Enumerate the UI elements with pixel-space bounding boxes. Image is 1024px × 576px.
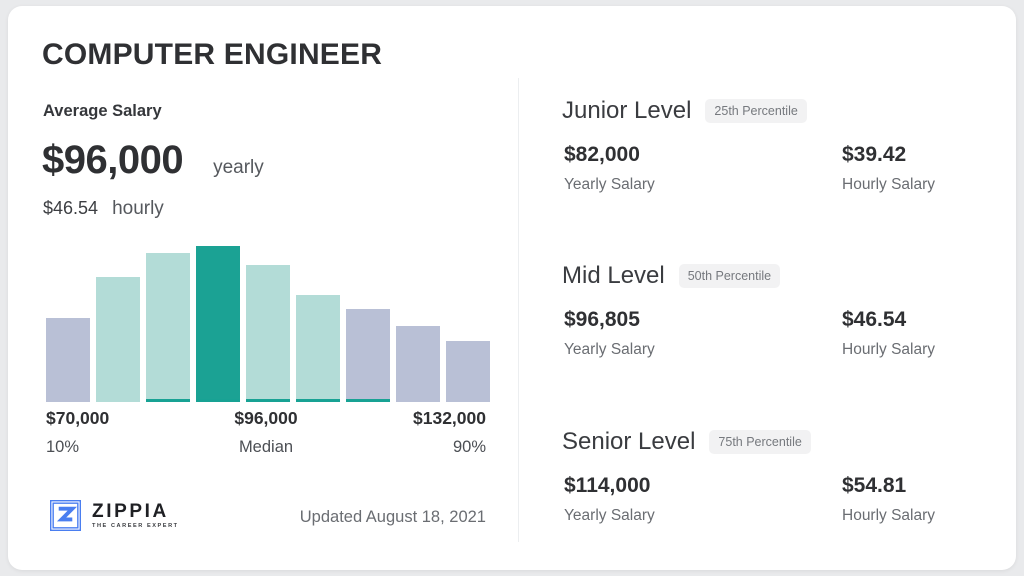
level-block: Junior Level25th Percentile$82,000Yearly… <box>562 96 982 201</box>
level-block: Senior Level75th Percentile$114,000Yearl… <box>562 427 982 532</box>
average-hourly-unit: hourly <box>112 198 164 220</box>
level-header: Mid Level50th Percentile <box>562 261 982 291</box>
card-footer: ZIPPIA THE CAREER EXPERT Updated August … <box>8 492 518 548</box>
hourly-salary-caption: Hourly Salary <box>842 341 935 359</box>
hourly-salary-amount: $54.81 <box>842 474 935 498</box>
axis-high-value: $132,000 <box>413 408 486 429</box>
zippia-logo-text: ZIPPIA THE CAREER EXPERT <box>92 502 179 530</box>
average-hourly-amount: $46.54 <box>43 198 98 219</box>
levels-panel: Junior Level25th Percentile$82,000Yearly… <box>519 6 1016 570</box>
average-hourly-row: $46.54 hourly <box>43 198 164 220</box>
chart-bar <box>96 277 140 402</box>
zippia-wordmark: ZIPPIA <box>92 502 179 521</box>
yearly-salary-amount: $82,000 <box>564 143 655 167</box>
yearly-salary-caption: Yearly Salary <box>564 341 655 359</box>
hourly-salary-stat: $39.42Hourly Salary <box>842 143 935 194</box>
page-title: COMPUTER ENGINEER <box>42 38 382 72</box>
chart-bar <box>396 326 440 402</box>
axis-high-sub: 90% <box>413 438 486 457</box>
zippia-logo-icon <box>50 500 81 531</box>
chart-bar-underline <box>196 399 240 402</box>
chart-bar <box>246 265 290 402</box>
level-stats: $96,805Yearly Salary$46.54Hourly Salary <box>562 308 982 366</box>
chart-bar-underline <box>296 399 340 402</box>
chart-bar <box>346 309 390 402</box>
level-stats: $114,000Yearly Salary$54.81Hourly Salary <box>562 474 982 532</box>
chart-bar <box>146 253 190 402</box>
level-name: Senior Level <box>562 428 695 456</box>
yearly-salary-stat: $96,805Yearly Salary <box>564 308 655 359</box>
chart-bar-underline <box>246 399 290 402</box>
zippia-tagline: THE CAREER EXPERT <box>92 524 179 530</box>
level-header: Senior Level75th Percentile <box>562 427 982 457</box>
yearly-salary-stat: $82,000Yearly Salary <box>564 143 655 194</box>
level-name: Mid Level <box>562 262 665 290</box>
hourly-salary-caption: Hourly Salary <box>842 176 935 194</box>
level-stats: $82,000Yearly Salary$39.42Hourly Salary <box>562 143 982 201</box>
level-name: Junior Level <box>562 97 691 125</box>
yearly-salary-amount: $96,805 <box>564 308 655 332</box>
average-salary-label: Average Salary <box>43 102 162 121</box>
chart-axis-labels: $70,000 10% $96,000 Median $132,000 90% <box>46 408 486 464</box>
hourly-salary-caption: Hourly Salary <box>842 507 935 525</box>
hourly-salary-amount: $46.54 <box>842 308 935 332</box>
chart-bar <box>296 295 340 402</box>
salary-distribution-chart <box>46 246 486 402</box>
yearly-salary-amount: $114,000 <box>564 474 655 498</box>
yearly-salary-caption: Yearly Salary <box>564 507 655 525</box>
updated-date: Updated August 18, 2021 <box>300 508 486 527</box>
chart-bar <box>196 246 240 402</box>
chart-bar-underline <box>146 399 190 402</box>
percentile-badge: 75th Percentile <box>709 430 810 454</box>
average-yearly-row: $96,000 yearly <box>42 138 264 183</box>
level-block: Mid Level50th Percentile$96,805Yearly Sa… <box>562 261 982 366</box>
hourly-salary-stat: $54.81Hourly Salary <box>842 474 935 525</box>
left-panel: COMPUTER ENGINEER Average Salary $96,000… <box>8 6 518 570</box>
chart-bar <box>46 318 90 402</box>
axis-label-high: $132,000 90% <box>413 408 486 457</box>
chart-bar-underline <box>346 399 390 402</box>
hourly-salary-amount: $39.42 <box>842 143 935 167</box>
hourly-salary-stat: $46.54Hourly Salary <box>842 308 935 359</box>
average-yearly-unit: yearly <box>213 157 264 179</box>
average-yearly-amount: $96,000 <box>42 138 183 183</box>
level-header: Junior Level25th Percentile <box>562 96 982 126</box>
percentile-badge: 25th Percentile <box>705 99 806 123</box>
chart-bar <box>446 341 490 402</box>
yearly-salary-stat: $114,000Yearly Salary <box>564 474 655 525</box>
yearly-salary-caption: Yearly Salary <box>564 176 655 194</box>
percentile-badge: 50th Percentile <box>679 264 780 288</box>
zippia-logo[interactable]: ZIPPIA THE CAREER EXPERT <box>50 500 179 531</box>
salary-card: COMPUTER ENGINEER Average Salary $96,000… <box>8 6 1016 570</box>
